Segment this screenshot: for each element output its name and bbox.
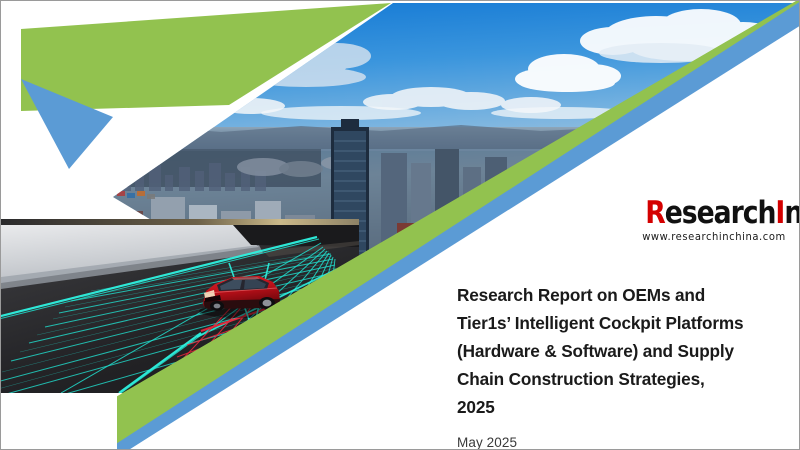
logo-website-url: www.researchinchina.com <box>638 231 790 243</box>
title-line-2: Tier1s’ Intelligent Cockpit Platforms <box>457 309 787 337</box>
title-line-3: (Hardware & Software) and Supply <box>457 337 787 365</box>
logo-seg-3: n <box>784 195 800 231</box>
title-line-5: 2025 <box>457 393 787 421</box>
title-line-1: Research Report on OEMs and <box>457 281 787 309</box>
logo-wordmark: ResearchInChina <box>645 197 783 230</box>
logo-seg-0: R <box>645 195 664 231</box>
researchinchina-logo: ResearchInChina www.researchinchina.com <box>634 197 794 243</box>
title-line-4: Chain Construction Strategies, <box>457 365 787 393</box>
report-cover-slide: ResearchInChina www.researchinchina.com … <box>0 0 800 450</box>
report-date: May 2025 <box>457 435 787 450</box>
logo-seg-2: I <box>775 195 784 231</box>
report-title: Research Report on OEMs and Tier1s’ Inte… <box>457 281 787 421</box>
cover-title-block: Research Report on OEMs and Tier1s’ Inte… <box>457 281 787 450</box>
logo-seg-1: esearch <box>665 195 776 231</box>
